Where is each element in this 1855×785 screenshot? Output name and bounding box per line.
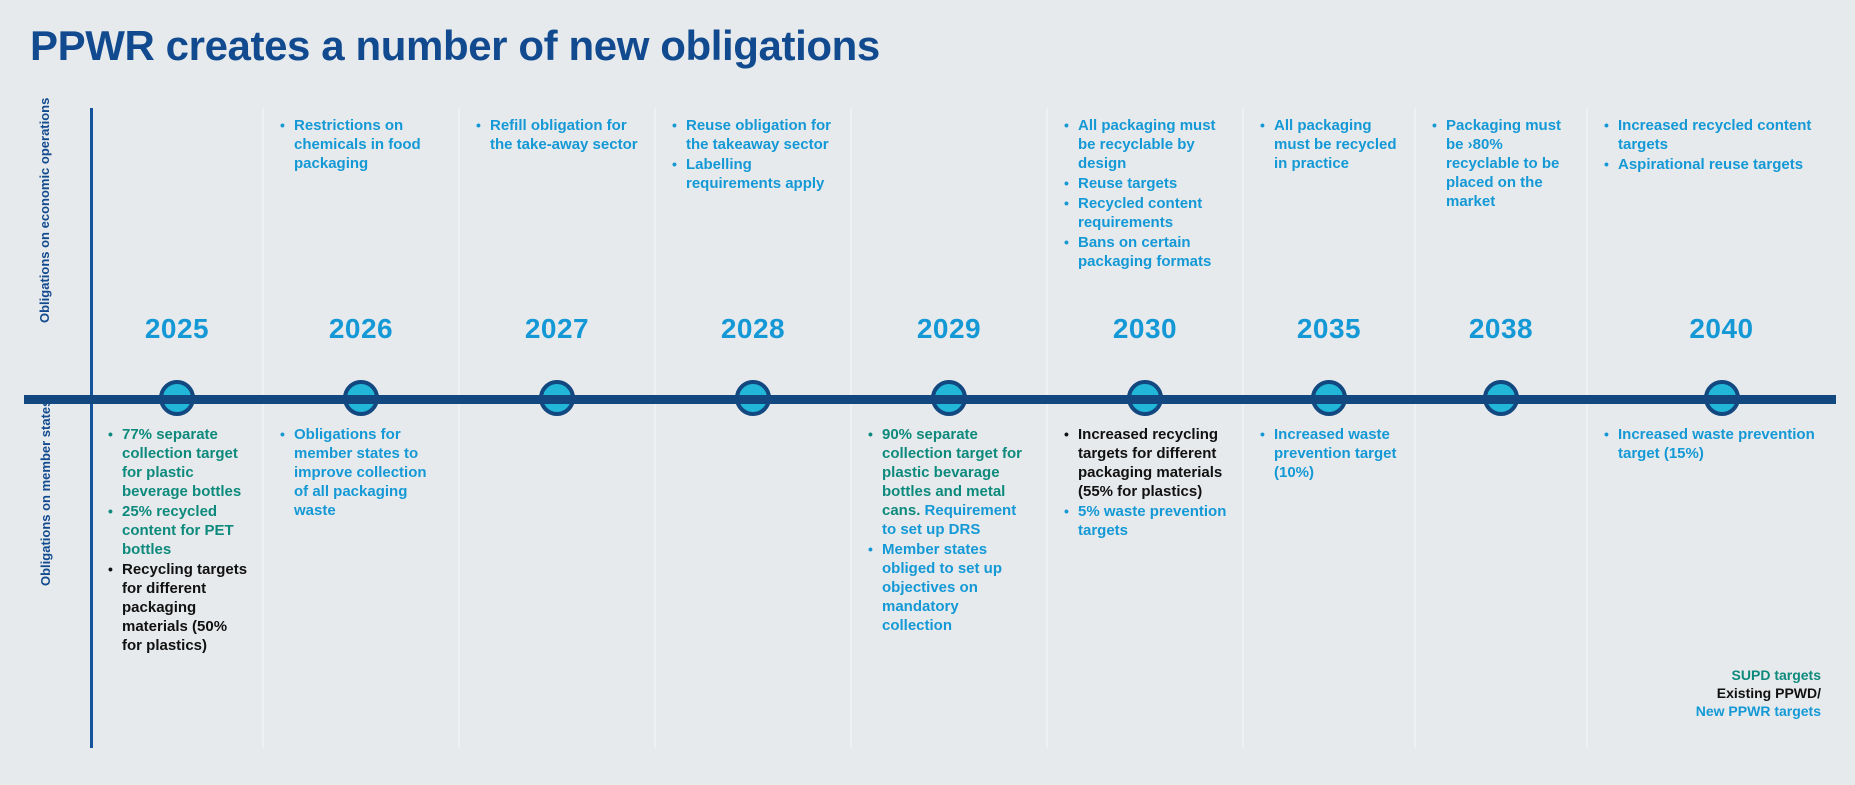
- bullet-list: Increased recycling targets for differen…: [1062, 425, 1228, 540]
- bullet-list: Increased recycled content targetsAspira…: [1602, 116, 1841, 174]
- bullet-item: Restrictions on chemicals in food packag…: [278, 116, 444, 173]
- legend-item-ppwd: Existing PPWD/: [1696, 684, 1821, 702]
- timeline-column-2030: All packaging must be recyclable by desi…: [1048, 108, 1244, 748]
- bullet-item: Labelling requirements apply: [670, 155, 836, 193]
- legend: SUPD targets Existing PPWD/ New PPWR tar…: [1696, 666, 1821, 720]
- legend-item-ppwr: New PPWR targets: [1696, 702, 1821, 720]
- bullet-item: All packaging must be recycled in practi…: [1258, 116, 1400, 173]
- timeline-frame: Obligations on economic operations Oblig…: [0, 108, 1855, 748]
- timeline-column-2038: Packaging must be ›80% recyclable to be …: [1416, 108, 1588, 748]
- bullet-list: Restrictions on chemicals in food packag…: [278, 116, 444, 173]
- bullet-list: 90% separate collection target for plast…: [866, 425, 1032, 635]
- bullet-item: Obligations for member states to improve…: [278, 425, 444, 520]
- timeline-column-2040: Increased recycled content targetsAspira…: [1588, 108, 1855, 748]
- bullet-item: Increased recycled content targets: [1602, 116, 1841, 154]
- timeline-bar: [24, 395, 1836, 404]
- timeline-column-2035: All packaging must be recycled in practi…: [1244, 108, 1416, 748]
- lower-obligations-2029: 90% separate collection target for plast…: [852, 425, 1046, 748]
- timeline-column-2025: 202577% separate collection target for p…: [92, 108, 264, 748]
- bullet-item: Recycling targets for different packagin…: [106, 560, 248, 655]
- bullet-item: Reuse targets: [1062, 174, 1228, 193]
- year-label-2026[interactable]: 2026: [264, 313, 458, 345]
- timeline-column-2026: Restrictions on chemicals in food packag…: [264, 108, 460, 748]
- bullet-item: 25% recycled content for PET bottles: [106, 502, 248, 559]
- lower-obligations-2027: [460, 425, 654, 748]
- year-label-2029[interactable]: 2029: [852, 313, 1046, 345]
- upper-obligations-2029: [852, 108, 1046, 395]
- upper-obligations-2035: All packaging must be recycled in practi…: [1244, 108, 1414, 395]
- bullet-item: All packaging must be recyclable by desi…: [1062, 116, 1228, 173]
- bullet-item: Aspirational reuse targets: [1602, 155, 1841, 174]
- lower-obligations-2025: 77% separate collection target for plast…: [92, 425, 262, 748]
- bullet-list: Increased waste prevention target (15%): [1602, 425, 1841, 463]
- bullet-item: Recycled content requirements: [1062, 194, 1228, 232]
- lower-obligations-2030: Increased recycling targets for differen…: [1048, 425, 1242, 748]
- bullet-item: Increased recycling targets for differen…: [1062, 425, 1228, 501]
- upper-obligations-2030: All packaging must be recyclable by desi…: [1048, 108, 1242, 395]
- year-label-2038[interactable]: 2038: [1416, 313, 1586, 345]
- bullet-list: Increased waste prevention target (10%): [1258, 425, 1400, 482]
- timeline-column-2028: Reuse obligation for the takeaway sector…: [656, 108, 852, 748]
- year-label-2040[interactable]: 2040: [1588, 313, 1855, 345]
- bullet-list: All packaging must be recyclable by desi…: [1062, 116, 1228, 271]
- upper-obligations-2027: Refill obligation for the take-away sect…: [460, 108, 654, 395]
- upper-obligations-2038: Packaging must be ›80% recyclable to be …: [1416, 108, 1586, 395]
- lower-obligations-2038: [1416, 425, 1586, 748]
- bullet-list: Refill obligation for the take-away sect…: [474, 116, 640, 154]
- timeline-column-2027: Refill obligation for the take-away sect…: [460, 108, 656, 748]
- upper-obligations-2040: Increased recycled content targetsAspira…: [1588, 108, 1855, 395]
- bullet-item: 90% separate collection target for plast…: [866, 425, 1032, 539]
- bullet-item: Increased waste prevention target (15%): [1602, 425, 1841, 463]
- bullet-list: All packaging must be recycled in practi…: [1258, 116, 1400, 173]
- bullet-item: 77% separate collection target for plast…: [106, 425, 248, 501]
- bullet-item: 5% waste prevention targets: [1062, 502, 1228, 540]
- bullet-item: Packaging must be ›80% recyclable to be …: [1430, 116, 1572, 211]
- bullet-item: Reuse obligation for the takeaway sector: [670, 116, 836, 154]
- lower-obligations-2026: Obligations for member states to improve…: [264, 425, 458, 748]
- axis-caption-member-states: Obligations on member states: [38, 446, 54, 586]
- bullet-item: Refill obligation for the take-away sect…: [474, 116, 640, 154]
- bullet-list: 77% separate collection target for plast…: [106, 425, 248, 655]
- year-label-2030[interactable]: 2030: [1048, 313, 1242, 345]
- year-label-2035[interactable]: 2035: [1244, 313, 1414, 345]
- page-title: PPWR creates a number of new obligations: [30, 22, 880, 70]
- lower-obligations-2028: [656, 425, 850, 748]
- bullet-list: Reuse obligation for the takeaway sector…: [670, 116, 836, 193]
- timeline-columns: 202577% separate collection target for p…: [92, 108, 1855, 748]
- year-label-2025[interactable]: 2025: [92, 313, 262, 345]
- bullet-item: Member states obliged to set up objectiv…: [866, 540, 1032, 635]
- axis-caption-economic-operations: Obligations on economic operations: [37, 173, 53, 323]
- year-label-2027[interactable]: 2027: [460, 313, 654, 345]
- bullet-item: Bans on certain packaging formats: [1062, 233, 1228, 271]
- upper-obligations-2025: [92, 108, 262, 395]
- legend-item-supd: SUPD targets: [1696, 666, 1821, 684]
- year-label-2028[interactable]: 2028: [656, 313, 850, 345]
- bullet-list: Obligations for member states to improve…: [278, 425, 444, 520]
- upper-obligations-2026: Restrictions on chemicals in food packag…: [264, 108, 458, 395]
- bullet-list: Packaging must be ›80% recyclable to be …: [1430, 116, 1572, 211]
- lower-obligations-2035: Increased waste prevention target (10%): [1244, 425, 1414, 748]
- bullet-item: Increased waste prevention target (10%): [1258, 425, 1400, 482]
- upper-obligations-2028: Reuse obligation for the takeaway sector…: [656, 108, 850, 395]
- timeline-column-2029: 202990% separate collection target for p…: [852, 108, 1048, 748]
